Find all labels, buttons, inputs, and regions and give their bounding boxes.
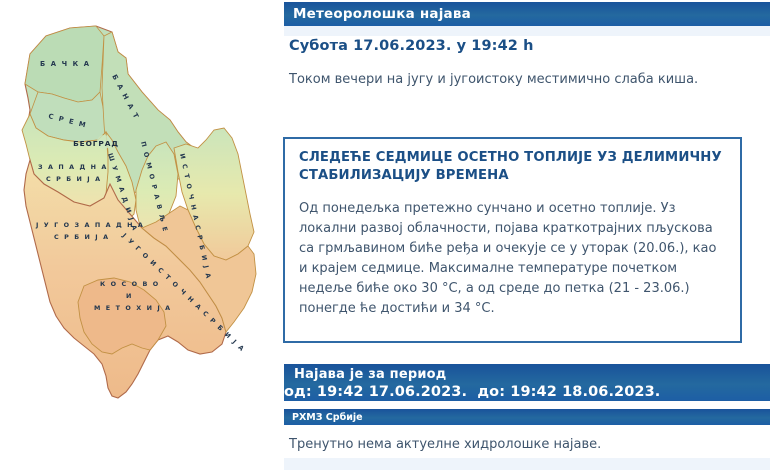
map-label-jugozapadna-1: Ј У Г О З А П А Д Н А: [35, 221, 144, 229]
divider-band-bottom: [284, 458, 770, 470]
map-label-zapadna-srbija-2: С Р Б И Ј А: [46, 175, 102, 183]
alert-content-column: Метеоролошка најава Субота 17.06.2023. у…: [280, 0, 770, 472]
map-label-kosovo-3: М Е Т О Х И Ј А: [94, 304, 172, 312]
alert-period-box: Најава је за период од: 19:42 17.06.2023…: [284, 364, 770, 401]
hydrology-notice-text: Тренутно нема актуелне хидролошке најаве…: [289, 435, 739, 455]
highlight-body-text: Од понедељка претежно сунчано и осетно т…: [299, 199, 726, 319]
serbia-map: Б А Ч К А Б А Н А Т С Р Е М БЕОГРАД З А …: [8, 14, 266, 418]
alert-period-range: од: 19:42 17.06.2023. до: 19:42 18.06.20…: [284, 383, 770, 401]
meteo-alert-title-bar: Метеоролошка најава: [284, 2, 770, 26]
forecast-date-line: Субота 17.06.2023. у 19:42 h: [289, 38, 759, 54]
rhmz-source-label: РХМЗ Србије: [292, 412, 363, 423]
highlight-heading: СЛЕДЕЋЕ СЕДМИЦЕ ОСЕТНО ТОПЛИЈЕ УЗ ДЕЛИМИ…: [299, 149, 726, 185]
serbia-map-panel: Б А Ч К А Б А Н А Т С Р Е М БЕОГРАД З А …: [0, 0, 280, 472]
map-label-kosovo-2: И: [126, 292, 133, 300]
map-label-jugozapadna-2: С Р Б И Ј А: [54, 233, 110, 241]
map-label-zapadna-srbija-1: З А П А Д Н А: [38, 163, 108, 171]
map-label-backa: Б А Ч К А: [40, 60, 91, 68]
forecast-intro-text: Током вечери на југу и југоистоку местим…: [289, 70, 739, 90]
map-label-beograd: БЕОГРАД: [73, 139, 119, 148]
weather-alert-page: Б А Ч К А Б А Н А Т С Р Е М БЕОГРАД З А …: [0, 0, 770, 472]
highlight-forecast-box: СЛЕДЕЋЕ СЕДМИЦЕ ОСЕТНО ТОПЛИЈЕ УЗ ДЕЛИМИ…: [283, 137, 742, 343]
rhmz-source-bar: РХМЗ Србије 17.06.2023: [284, 409, 770, 425]
map-label-kosovo-1: К О С О В О: [100, 280, 160, 288]
alert-period-title: Најава је за период: [284, 366, 770, 383]
divider-band-top: [284, 26, 770, 36]
